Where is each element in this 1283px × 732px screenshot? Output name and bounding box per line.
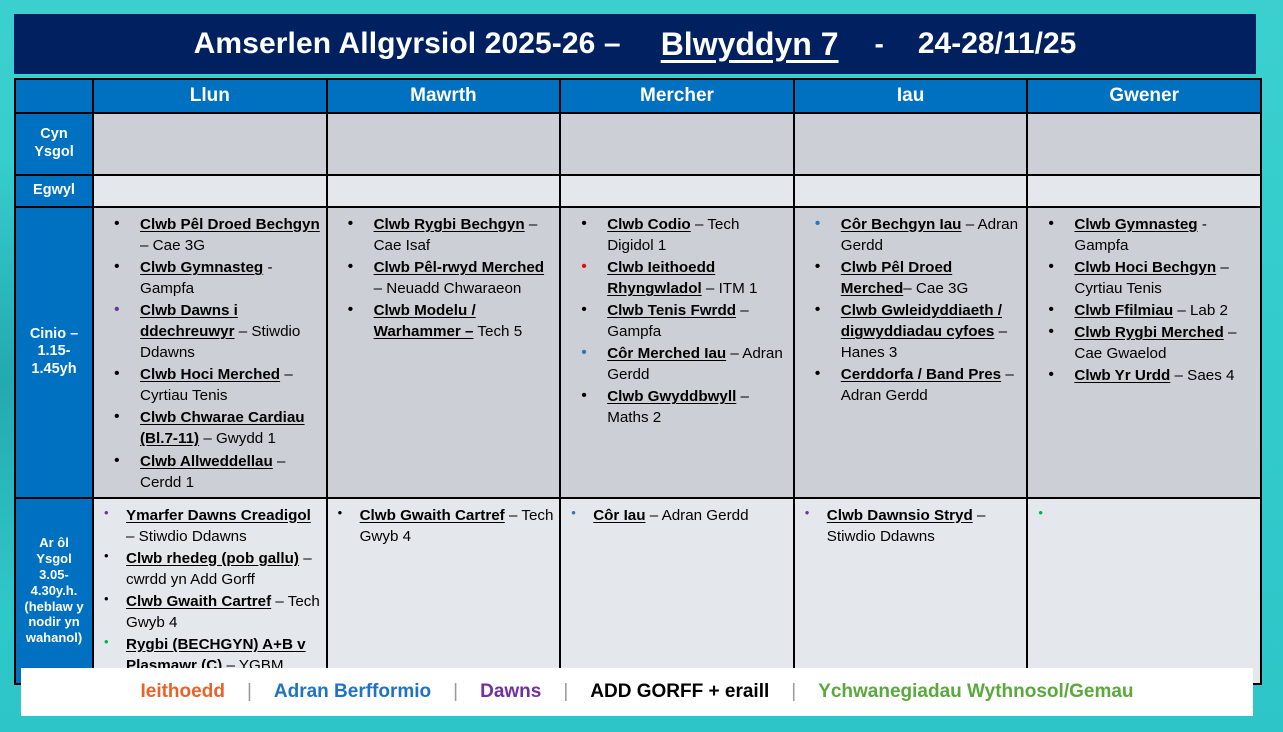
cell-egwyl-mawrth[interactable] xyxy=(327,175,561,207)
club-list: Ymarfer Dawns Creadigol – Stiwdio Ddawns… xyxy=(96,505,322,676)
club-item[interactable]: Clwb Hoci Merched – Cyrtiau Tenis xyxy=(96,364,322,406)
club-item[interactable]: Clwb Dawnsio Stryd – Stiwdio Ddawns xyxy=(797,505,1023,547)
club-name: Côr Bechgyn Iau xyxy=(841,216,962,233)
cell-egwyl-mercher[interactable] xyxy=(560,175,794,207)
row-ar-ol-ysgol: Ar ôl Ysgol 3.05- 4.30y.h. (heblaw y nod… xyxy=(15,498,1261,684)
cell-cyn-ysgol-iau[interactable] xyxy=(794,113,1028,175)
club-list: Clwb Gwaith Cartref – Tech Gwyb 4 xyxy=(330,505,556,547)
club-item[interactable]: Clwb Gymnasteg - Gampfa xyxy=(1030,214,1256,256)
club-name: Ymarfer Dawns Creadigol xyxy=(126,507,311,524)
legend-item: Dawns xyxy=(458,681,563,703)
club-name: Côr Iau xyxy=(593,507,645,524)
cell-after-school-gwener[interactable] xyxy=(1027,498,1261,684)
row-cinio: Cinio – 1.15- 1.45yh Clwb Pêl Droed Bech… xyxy=(15,207,1261,498)
club-item[interactable]: Clwb Hoci Bechgyn – Cyrtiau Tenis xyxy=(1030,257,1256,299)
cell-after-school-mawrth[interactable]: Clwb Gwaith Cartref – Tech Gwyb 4 xyxy=(327,498,561,684)
day-header-llun: Llun xyxy=(93,79,327,113)
page-title-date-range: 24-28/11/25 xyxy=(918,27,1076,61)
club-name: Clwb Ffilmiau xyxy=(1074,302,1173,319)
club-item[interactable]: Clwb Ffilmiau – Lab 2 xyxy=(1030,300,1256,321)
time-label-line: Ysgol xyxy=(36,551,71,566)
day-header-mercher: Mercher xyxy=(560,79,794,113)
cell-cyn-ysgol-gwener[interactable] xyxy=(1027,113,1261,175)
club-location: – Neuadd Chwaraeon xyxy=(374,280,522,297)
club-item[interactable]: Clwb Pêl-rwyd Merched – Neuadd Chwaraeon xyxy=(330,257,556,299)
club-name: Côr Merched Iau xyxy=(607,345,726,362)
club-location: – Cae 3G xyxy=(140,237,205,254)
time-label-line: Cyn xyxy=(40,126,67,142)
club-name: Clwb Rygbi Merched xyxy=(1074,324,1223,341)
page-title-bar: Amserlen Allgyrsiol 2025-26 – Blwyddyn 7… xyxy=(14,14,1256,74)
club-list: Côr Iau – Adran Gerdd xyxy=(563,505,789,526)
club-name: Clwb Gymnasteg xyxy=(1074,216,1197,233)
club-name: Clwb rhedeg (pob gallu) xyxy=(126,550,299,567)
club-item[interactable]: Clwb Tenis Fwrdd – Gampfa xyxy=(563,300,789,342)
club-name: Clwb Codio xyxy=(607,216,691,233)
time-label-line: 1.45yh xyxy=(31,361,76,377)
club-location: Tech 5 xyxy=(473,323,522,340)
club-name: Clwb Modelu / Warhammer – xyxy=(374,302,476,340)
club-item[interactable]: Clwb Pêl Droed Bechgyn – Cae 3G xyxy=(96,214,322,256)
time-label-line: 3.05- xyxy=(39,567,69,582)
time-label-line: Cinio – xyxy=(30,326,78,342)
time-label-line: (heblaw y xyxy=(24,599,83,614)
club-item[interactable]: Clwb Gymnasteg - Gampfa xyxy=(96,257,322,299)
time-label-egwyl: Egwyl xyxy=(15,175,93,207)
cell-after-school-iau[interactable]: Clwb Dawnsio Stryd – Stiwdio Ddawns xyxy=(794,498,1028,684)
club-list: Clwb Gymnasteg - GampfaClwb Hoci Bechgyn… xyxy=(1030,214,1256,386)
row-cyn-ysgol: Cyn Ysgol xyxy=(15,113,1261,175)
cell-cyn-ysgol-mawrth[interactable] xyxy=(327,113,561,175)
club-name: Clwb Dawns i ddechreuwyr xyxy=(140,302,238,340)
club-item[interactable]: Clwb Allweddellau – Cerdd 1 xyxy=(96,451,322,493)
club-item[interactable]: Côr Bechgyn Iau – Adran Gerdd xyxy=(797,214,1023,256)
time-label-line: Ar ôl xyxy=(39,535,69,550)
club-item[interactable] xyxy=(1030,505,1256,525)
cell-after-school-mercher[interactable]: Côr Iau – Adran Gerdd xyxy=(560,498,794,684)
club-name: Clwb Dawnsio Stryd xyxy=(827,507,973,524)
legend-bar: Ieithoedd|Adran Berfformio|Dawns|ADD GOR… xyxy=(21,668,1253,716)
cell-egwyl-gwener[interactable] xyxy=(1027,175,1261,207)
cell-egwyl-llun[interactable] xyxy=(93,175,327,207)
cell-cyn-ysgol-mercher[interactable] xyxy=(560,113,794,175)
cell-cinio-gwener[interactable]: Clwb Gymnasteg - GampfaClwb Hoci Bechgyn… xyxy=(1027,207,1261,498)
cell-egwyl-iau[interactable] xyxy=(794,175,1028,207)
club-item[interactable]: Clwb rhedeg (pob gallu) – cwrdd yn Add G… xyxy=(96,548,322,590)
legend-item: ADD GORFF + eraill xyxy=(568,681,791,703)
club-name: Cerddorfa / Band Pres xyxy=(841,366,1001,383)
club-item[interactable]: Clwb Rygbi Bechgyn – Cae Isaf xyxy=(330,214,556,256)
club-list xyxy=(1030,505,1256,525)
club-item[interactable]: Clwb Codio – Tech Digidol 1 xyxy=(563,214,789,256)
time-label-cinio: Cinio – 1.15- 1.45yh xyxy=(15,207,93,498)
day-header-gwener: Gwener xyxy=(1027,79,1261,113)
legend-item: Adran Berfformio xyxy=(252,681,453,703)
club-item[interactable]: Clwb Pêl Droed Merched– Cae 3G xyxy=(797,257,1023,299)
club-name: Clwb Tenis Fwrdd xyxy=(607,302,736,319)
timetable-header-row: Llun Mawrth Mercher Iau Gwener xyxy=(15,79,1261,113)
time-label-line: 4.30y.h. xyxy=(31,583,78,598)
club-location: – Adran Gerdd xyxy=(646,507,749,524)
club-name: Clwb Gymnasteg xyxy=(140,259,263,276)
club-item[interactable]: Clwb Modelu / Warhammer – Tech 5 xyxy=(330,300,556,342)
club-item[interactable]: Clwb Gwaith Cartref – Tech Gwyb 4 xyxy=(96,591,322,633)
time-label-cyn-ysgol: Cyn Ysgol xyxy=(15,113,93,175)
club-name: Clwb Yr Urdd xyxy=(1074,367,1170,384)
club-name: Clwb Ieithoedd Rhyngwladol xyxy=(607,259,715,297)
club-item[interactable]: Côr Merched Iau – Adran Gerdd xyxy=(563,343,789,385)
club-item[interactable]: Clwb Chwarae Cardiau (Bl.7-11) – Gwydd 1 xyxy=(96,407,322,449)
club-location: – Gwydd 1 xyxy=(199,430,276,447)
club-name: Clwb Gwaith Cartref xyxy=(360,507,505,524)
club-location: – Lab 2 xyxy=(1173,302,1228,319)
club-item[interactable]: Clwb Gwaith Cartref – Tech Gwyb 4 xyxy=(330,505,556,547)
club-list: Clwb Codio – Tech Digidol 1Clwb Ieithoed… xyxy=(563,214,789,428)
club-item[interactable]: Clwb Dawns i ddechreuwyr – Stiwdio Ddawn… xyxy=(96,300,322,363)
cell-cinio-iau[interactable]: Côr Bechgyn Iau – Adran GerddClwb Pêl Dr… xyxy=(794,207,1028,498)
club-item[interactable]: Cerddorfa / Band Pres – Adran Gerdd xyxy=(797,364,1023,406)
cell-cinio-mawrth[interactable]: Clwb Rygbi Bechgyn – Cae IsafClwb Pêl-rw… xyxy=(327,207,561,498)
club-location: – Stiwdio Ddawns xyxy=(126,528,247,545)
club-item[interactable]: Ymarfer Dawns Creadigol – Stiwdio Ddawns xyxy=(96,505,322,547)
club-list: Clwb Dawnsio Stryd – Stiwdio Ddawns xyxy=(797,505,1023,547)
cell-after-school-llun[interactable]: Ymarfer Dawns Creadigol – Stiwdio Ddawns… xyxy=(93,498,327,684)
club-name: Clwb Pêl-rwyd Merched xyxy=(374,259,544,276)
legend-item: Ychwanegiadau Wythnosol/Gemau xyxy=(796,681,1155,703)
time-label-line: 1.15- xyxy=(37,343,70,359)
row-egwyl: Egwyl xyxy=(15,175,1261,207)
club-list: Clwb Pêl Droed Bechgyn – Cae 3GClwb Gymn… xyxy=(96,214,322,493)
club-name: Clwb Gwleidyddiaeth / digwyddiadau cyfoe… xyxy=(841,302,1002,340)
time-label-line: nodir yn xyxy=(28,614,79,629)
club-location: – ITM 1 xyxy=(702,280,758,297)
club-item[interactable]: Clwb Rygbi Merched – Cae Gwaelod xyxy=(1030,322,1256,364)
day-header-mawrth: Mawrth xyxy=(327,79,561,113)
club-name: Clwb Hoci Bechgyn xyxy=(1074,259,1216,276)
club-name: Clwb Gwaith Cartref xyxy=(126,593,271,610)
club-item[interactable]: Clwb Gwleidyddiaeth / digwyddiadau cyfoe… xyxy=(797,300,1023,363)
time-label-line: Ysgol xyxy=(34,144,73,160)
club-list: Côr Bechgyn Iau – Adran GerddClwb Pêl Dr… xyxy=(797,214,1023,406)
page-title-dash: - xyxy=(875,28,884,60)
cell-cinio-mercher[interactable]: Clwb Codio – Tech Digidol 1Clwb Ieithoed… xyxy=(560,207,794,498)
time-label-line: wahanol) xyxy=(26,630,82,645)
page-title-year-group: Blwyddyn 7 xyxy=(655,26,845,63)
day-header-iau: Iau xyxy=(794,79,1028,113)
legend-item: Ieithoedd xyxy=(118,681,246,703)
cell-cyn-ysgol-llun[interactable] xyxy=(93,113,327,175)
club-item[interactable]: Côr Iau – Adran Gerdd xyxy=(563,505,789,526)
club-name: Clwb Allweddellau xyxy=(140,453,273,470)
time-label-ar-ol-ysgol: Ar ôl Ysgol 3.05- 4.30y.h. (heblaw y nod… xyxy=(15,498,93,684)
club-name: Clwb Gwyddbwyll xyxy=(607,388,736,405)
club-location: – Cae 3G xyxy=(903,280,968,297)
club-item[interactable]: Clwb Yr Urdd – Saes 4 xyxy=(1030,365,1256,386)
cell-cinio-llun[interactable]: Clwb Pêl Droed Bechgyn – Cae 3GClwb Gymn… xyxy=(93,207,327,498)
page-title-main: Amserlen Allgyrsiol 2025-26 – xyxy=(194,27,621,61)
club-item[interactable]: Clwb Ieithoedd Rhyngwladol – ITM 1 xyxy=(563,257,789,299)
timetable: Llun Mawrth Mercher Iau Gwener Cyn Ysgol… xyxy=(14,78,1262,685)
header-corner xyxy=(15,79,93,113)
club-name: Clwb Hoci Merched xyxy=(140,366,280,383)
club-list: Clwb Rygbi Bechgyn – Cae IsafClwb Pêl-rw… xyxy=(330,214,556,342)
club-name: Clwb Pêl Droed Bechgyn xyxy=(140,216,320,233)
club-name: Clwb Rygbi Bechgyn xyxy=(374,216,525,233)
club-item[interactable]: Clwb Gwyddbwyll – Maths 2 xyxy=(563,386,789,428)
club-location: – Saes 4 xyxy=(1170,367,1234,384)
